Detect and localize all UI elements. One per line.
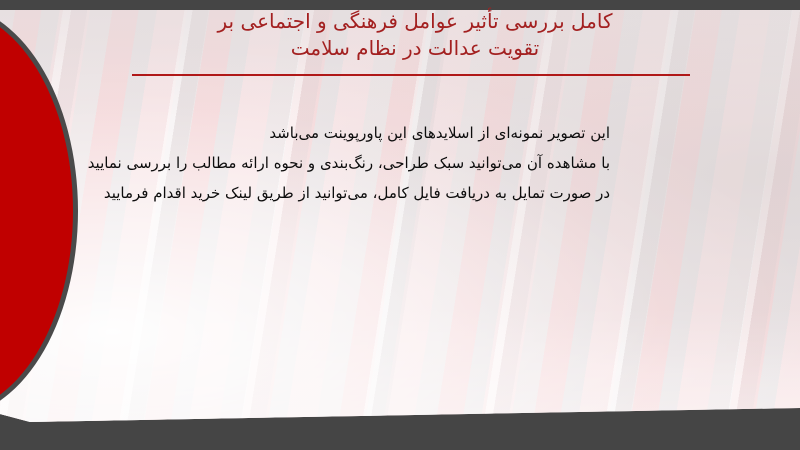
- slide-content-panel: [0, 10, 800, 422]
- background-light-wash: [0, 10, 800, 422]
- body-line-2: با مشاهده آن می‌توانید سبک طراحی، رنگ‌بن…: [90, 148, 610, 178]
- slide-body-text: این تصویر نمونه‌ای از اسلایدهای این پاور…: [90, 118, 610, 208]
- slide-canvas: کامل بررسی تأثیر عوامل فرهنگی و اجتماعی …: [0, 0, 800, 450]
- body-line-1: این تصویر نمونه‌ای از اسلایدهای این پاور…: [90, 118, 610, 148]
- slide-title-line-2: تقویت عدالت در نظام سلامت: [120, 35, 710, 62]
- title-underline-rule: [132, 74, 690, 76]
- slide-title: کامل بررسی تأثیر عوامل فرهنگی و اجتماعی …: [120, 8, 710, 62]
- slide-title-line-1: کامل بررسی تأثیر عوامل فرهنگی و اجتماعی …: [120, 8, 710, 35]
- body-line-3: در صورت تمایل به دریافت فایل کامل، می‌تو…: [90, 178, 610, 208]
